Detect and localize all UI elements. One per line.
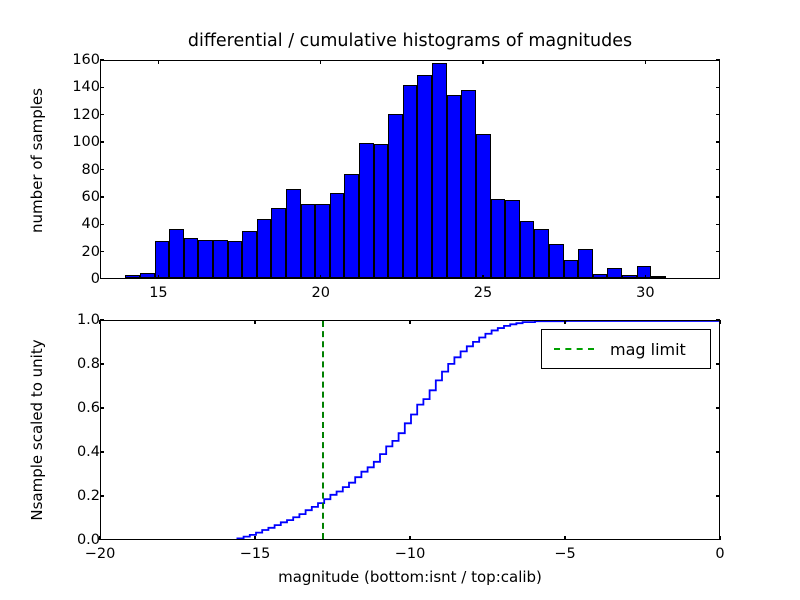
histogram-bar	[228, 241, 243, 278]
top-ytick-label: 80	[0, 162, 106, 178]
top-ytick-label: 60	[0, 189, 106, 205]
top-xtick-mark-upper	[320, 60, 321, 64]
bottom-ytick-mark-right	[716, 495, 720, 496]
top-ytick-mark-right	[716, 141, 720, 142]
histogram-bar	[520, 221, 535, 278]
bottom-xtick-mark-upper	[719, 320, 720, 324]
top-ytick-mark-right	[716, 87, 720, 88]
bottom-xtick-mark-upper	[564, 320, 565, 324]
histogram-bar	[257, 219, 272, 278]
top-ytick-mark-right	[716, 114, 720, 115]
top-xtick-label: 15	[149, 285, 167, 301]
bottom-xtick-mark-upper	[409, 320, 410, 324]
bottom-ytick-label: 0.8	[0, 356, 106, 372]
top-xtick-mark	[320, 275, 321, 279]
histogram-bar	[359, 143, 374, 279]
bottom-xtick-label: 0	[715, 546, 724, 562]
mag-limit-vline	[322, 321, 324, 539]
histogram-bar	[461, 90, 476, 278]
histogram-bar	[607, 268, 622, 278]
top-ytick-mark	[100, 251, 104, 252]
histogram-bar	[242, 231, 257, 278]
top-ytick-label: 120	[0, 107, 106, 123]
bottom-xtick-mark	[719, 536, 720, 540]
histogram-bar	[447, 95, 462, 278]
top-xtick-label: 25	[474, 285, 492, 301]
bottom-xtick-mark-upper	[99, 320, 100, 324]
bottom-xtick-label: −15	[240, 546, 271, 562]
bottom-xtick-mark	[564, 536, 565, 540]
histogram-bar	[198, 240, 213, 278]
histogram-bar	[374, 144, 389, 278]
bottom-xtick-label: −20	[85, 546, 116, 562]
histogram-bar	[505, 200, 520, 278]
top-ytick-label: 20	[0, 244, 106, 260]
top-ytick-mark-right	[716, 59, 720, 60]
histogram-bar	[330, 193, 345, 278]
histogram-bar	[301, 204, 316, 278]
top-ytick-mark	[100, 59, 104, 60]
figure: differential / cumulative histograms of …	[0, 0, 800, 600]
figure-xlabel: magnitude (bottom:isnt / top:calib)	[100, 568, 720, 586]
histogram-plot-area	[101, 61, 719, 278]
histogram-bar	[593, 274, 608, 278]
bottom-ytick-mark-right	[716, 451, 720, 452]
histogram-bar	[344, 174, 359, 278]
legend-label-mag-limit: mag limit	[610, 340, 686, 359]
bottom-xtick-mark	[254, 536, 255, 540]
histogram-bar	[476, 134, 491, 278]
top-ytick-mark-right	[716, 196, 720, 197]
histogram-bar	[125, 275, 140, 278]
top-ytick-label: 160	[0, 52, 106, 68]
top-ytick-mark-right	[716, 224, 720, 225]
top-ytick-mark-right	[716, 251, 720, 252]
legend: mag limit	[541, 329, 711, 369]
histogram-bar	[169, 229, 184, 278]
top-ytick-mark-right	[716, 169, 720, 170]
histogram-bar	[622, 275, 637, 278]
top-ytick-mark	[100, 224, 104, 225]
histogram-bar	[432, 63, 447, 278]
bottom-ytick-label: 1.0	[0, 312, 106, 328]
top-ytick-mark	[100, 169, 104, 170]
figure-title: differential / cumulative histograms of …	[100, 31, 720, 51]
histogram-bar	[271, 208, 286, 278]
bottom-panel-axes: mag limit	[100, 320, 720, 540]
histogram-bar	[155, 241, 170, 278]
top-xtick-mark	[645, 275, 646, 279]
histogram-bar	[549, 244, 564, 278]
histogram-bar	[403, 85, 418, 278]
bottom-ytick-mark-right	[716, 407, 720, 408]
bottom-ytick-label: 0.2	[0, 488, 106, 504]
top-ytick-label: 100	[0, 134, 106, 150]
histogram-bar	[491, 199, 506, 278]
bottom-ytick-mark	[100, 451, 104, 452]
bottom-xtick-mark-upper	[254, 320, 255, 324]
bottom-ytick-mark	[100, 407, 104, 408]
bottom-xtick-mark	[99, 536, 100, 540]
top-xtick-mark	[158, 275, 159, 279]
top-panel-axes	[100, 60, 720, 279]
top-xtick-label: 20	[311, 285, 329, 301]
top-ytick-mark	[100, 141, 104, 142]
bottom-xtick-label: −10	[395, 546, 426, 562]
histogram-bar	[140, 273, 155, 278]
bottom-ytick-mark-right	[716, 363, 720, 364]
bottom-xtick-mark	[409, 536, 410, 540]
top-xtick-label: 30	[636, 285, 654, 301]
histogram-bar	[534, 229, 549, 278]
bottom-ytick-label: 0.4	[0, 444, 106, 460]
histogram-bar	[213, 240, 228, 278]
top-ytick-mark	[100, 114, 104, 115]
bottom-xtick-label: −5	[554, 546, 575, 562]
top-xtick-mark-upper	[158, 60, 159, 64]
top-ytick-label: 40	[0, 216, 106, 232]
bottom-ytick-mark	[100, 363, 104, 364]
histogram-bar	[564, 260, 579, 278]
top-ytick-mark	[100, 196, 104, 197]
legend-dashed-line-icon	[554, 348, 594, 350]
top-ytick-mark	[100, 87, 104, 88]
top-ytick-label: 140	[0, 79, 106, 95]
histogram-bar	[417, 75, 432, 278]
bottom-ytick-label: 0.6	[0, 400, 106, 416]
histogram-bar	[388, 114, 403, 278]
histogram-bar	[651, 276, 666, 278]
top-xtick-mark	[482, 275, 483, 279]
histogram-bar	[578, 249, 593, 278]
bottom-ytick-mark	[100, 495, 104, 496]
histogram-bar	[184, 238, 199, 278]
histogram-bar	[286, 189, 301, 278]
bottom-panel-ylabel: Nsample scaled to unity	[28, 320, 46, 540]
top-xtick-mark-upper	[645, 60, 646, 64]
histogram-bar	[315, 204, 330, 278]
top-ytick-label: 0	[0, 271, 106, 287]
top-xtick-mark-upper	[482, 60, 483, 64]
